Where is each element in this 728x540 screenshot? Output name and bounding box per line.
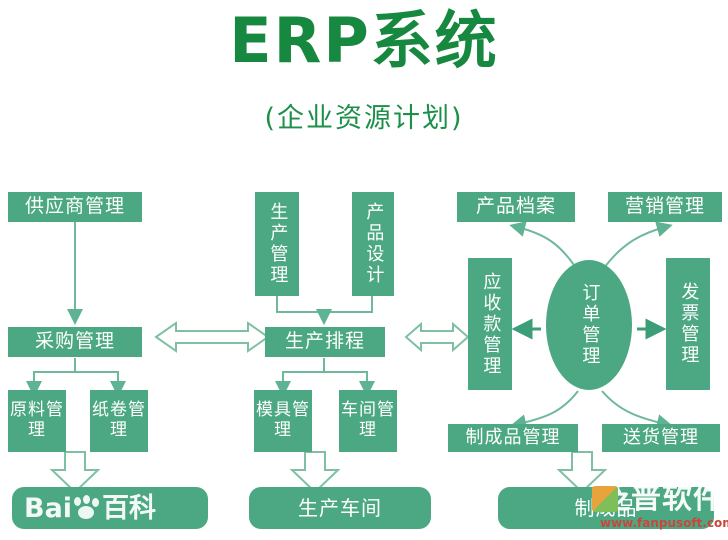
node-invoice-mgmt[interactable]: 发票管理	[666, 258, 710, 390]
edge-order-to-finished	[518, 391, 578, 424]
node-marketing-mgmt[interactable]: 营销管理	[608, 192, 722, 222]
edge-design-to-schedule	[324, 296, 372, 317]
node-mold-mgmt[interactable]: 模具管理	[254, 390, 312, 452]
block-arrow-raw-to-warehouse	[52, 452, 98, 492]
edge-schedule-to-workshop	[324, 358, 367, 389]
node-paper-roll-mgmt[interactable]: 纸卷管理	[90, 390, 148, 452]
node-production-workshop[interactable]: 生产车间	[249, 487, 431, 529]
node-product-archive[interactable]: 产品档案	[457, 192, 575, 222]
double-arrow-purchase-schedule	[156, 323, 268, 351]
page-title: ERP系统	[0, 10, 728, 72]
node-raw-material-mgmt[interactable]: 原料管理	[8, 390, 66, 452]
node-order-mgmt[interactable]: 订单管理	[546, 260, 632, 390]
edge-schedule-to-mold	[283, 358, 324, 389]
erp-diagram-canvas: ERP系统 (企业资源计划)	[0, 0, 728, 540]
node-purchase-mgmt[interactable]: 采购管理	[8, 327, 142, 357]
node-order-mgmt-label: 订单管理	[579, 283, 600, 367]
node-production-mgmt[interactable]: 生产管理	[255, 192, 299, 296]
edge-purchase-to-raw	[34, 358, 75, 389]
node-receivable-mgmt[interactable]: 应收款管理	[468, 258, 512, 390]
node-product-design[interactable]: 产品设计	[352, 192, 394, 296]
page-subtitle: (企业资源计划)	[0, 96, 728, 135]
edge-purchase-to-roll	[75, 358, 118, 389]
edge-order-to-delivery	[602, 391, 665, 424]
node-workshop-mgmt[interactable]: 车间管理	[339, 390, 397, 452]
node-finished-goods-mgmt[interactable]: 制成品管理	[448, 424, 578, 452]
block-arrow-finished-to-warehouse	[559, 452, 605, 492]
edge-prodmgmt-to-schedule	[277, 296, 324, 317]
node-production-schedule[interactable]: 生产排程	[265, 327, 385, 357]
node-supplier-mgmt[interactable]: 供应商管理	[8, 192, 142, 222]
block-arrow-mold-to-workshop	[292, 452, 338, 492]
node-raw-material-warehouse[interactable]	[12, 487, 208, 529]
double-arrow-schedule-receivable	[406, 324, 468, 350]
node-delivery-mgmt[interactable]: 送货管理	[602, 424, 720, 452]
node-finished-goods-warehouse[interactable]: 制成品	[498, 487, 714, 529]
edge-order-to-archive	[517, 227, 576, 268]
edge-order-to-marketing	[604, 227, 665, 268]
